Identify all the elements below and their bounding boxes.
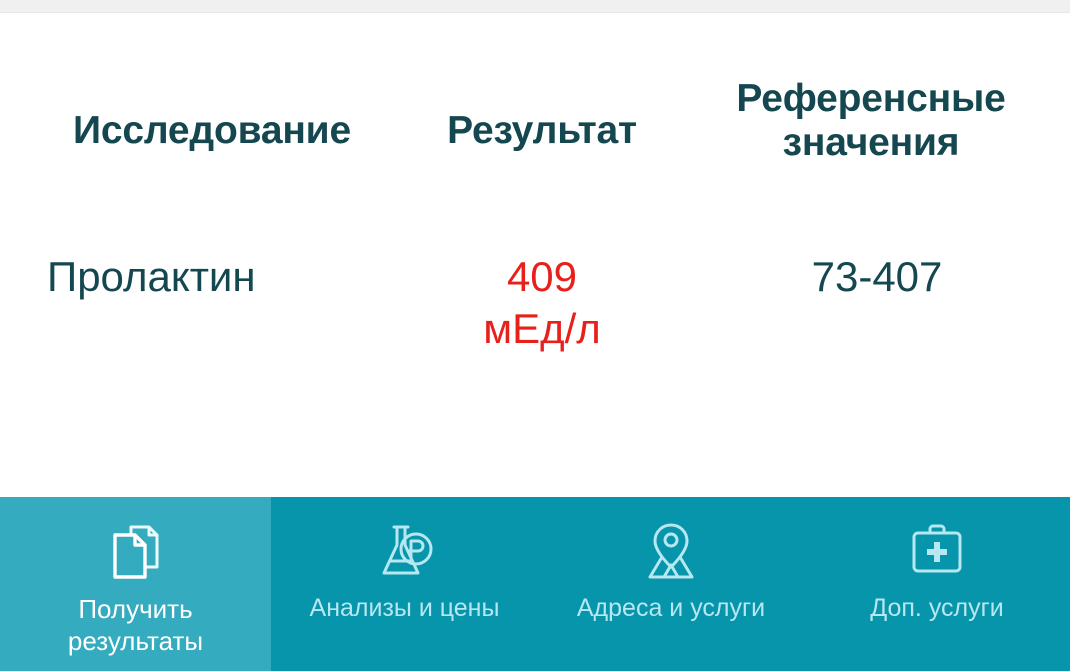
tab-label-addresses-and-services: Адреса и услуги: [571, 593, 771, 624]
result-value: 409: [424, 251, 660, 303]
table-body: Пролактин 409 мЕд/л 73-407: [0, 189, 1070, 329]
result-units: мЕд/л: [424, 303, 660, 355]
tab-label-extra-services: Доп. услуги: [864, 593, 1009, 624]
column-header-study: Исследование: [18, 109, 406, 153]
bottom-tab-bar: Получить результаты Анализы и цены: [0, 497, 1070, 671]
tab-get-results[interactable]: Получить результаты: [0, 497, 271, 671]
flask-ruble-icon: [374, 519, 436, 583]
documents-icon: [105, 519, 167, 583]
tab-label-analyses-and-prices: Анализы и цены: [304, 593, 506, 624]
table-row: Пролактин 409 мЕд/л 73-407: [0, 189, 1070, 329]
app-root: Исследование Результат Референсные значе…: [0, 0, 1070, 671]
tab-analyses-and-prices[interactable]: Анализы и цены: [271, 497, 538, 671]
tab-addresses-and-services[interactable]: Адреса и услуги: [538, 497, 804, 671]
cell-study-name: Пролактин: [47, 251, 427, 303]
column-header-result: Результат: [424, 109, 660, 153]
table-header-row: Исследование Результат Референсные значе…: [0, 14, 1070, 189]
tab-extra-services[interactable]: Доп. услуги: [804, 497, 1070, 671]
tab-label-get-results: Получить результаты: [62, 593, 209, 657]
medical-bag-icon: [906, 519, 968, 583]
cell-reference-range: 73-407: [706, 251, 1048, 303]
results-table: Исследование Результат Референсные значе…: [0, 14, 1070, 497]
map-pin-icon: [640, 519, 702, 583]
cell-result: 409 мЕд/л: [424, 251, 660, 355]
column-header-reference: Референсные значения: [700, 77, 1042, 165]
status-bar-strip: [0, 0, 1070, 13]
